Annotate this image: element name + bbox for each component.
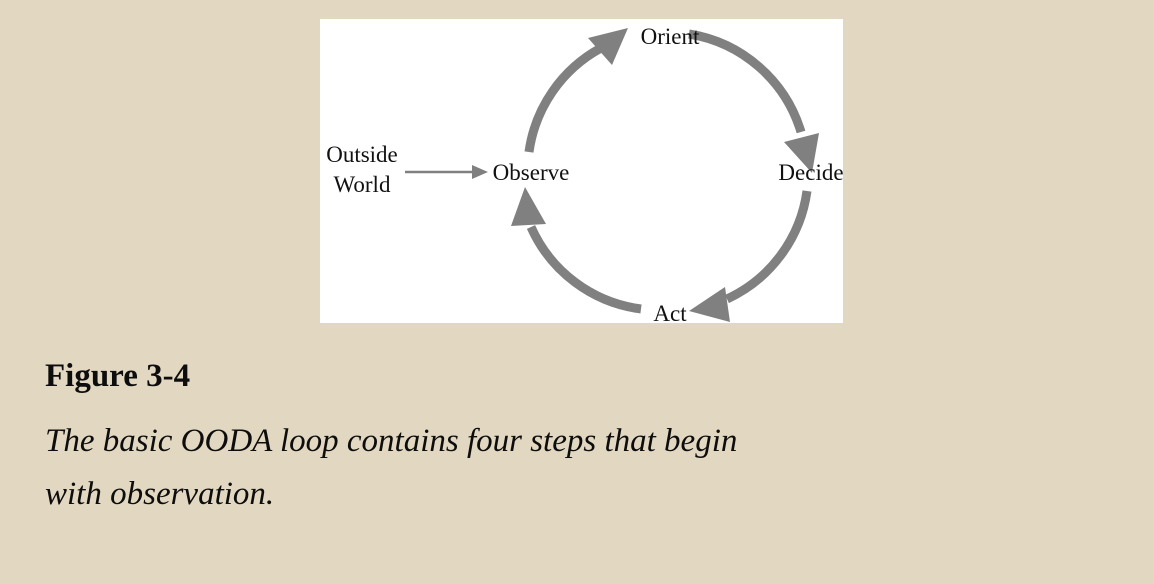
edge-outside-world-to-observe [405,165,488,179]
caption-line-2: with observation. [45,468,1065,521]
figure-number-label: Figure 3-4 [45,360,1105,393]
figure-image-panel: .arc { fill: none; stroke: #808080; stro… [320,19,843,323]
node-label-observe: Observe [493,160,570,185]
edge-orient-to-decide [689,34,819,173]
node-label-orient: Orient [641,24,700,49]
figure-caption-text: The basic OODA loop contains four steps … [45,415,1065,522]
edge-observe-to-orient [529,28,628,152]
ooda-loop-diagram: .arc { fill: none; stroke: #808080; stro… [320,19,843,323]
figure-caption-block: Figure 3-4 The basic OODA loop contains … [45,360,1105,522]
node-label-act: Act [653,301,687,323]
node-label-decide: Decide [778,160,843,185]
caption-line-1: The basic OODA loop contains four steps … [45,415,1065,468]
edge-act-to-observe [511,187,641,309]
outside-world-label-line1: Outside [326,142,398,167]
outside-world-label-line2: World [334,172,391,197]
edge-decide-to-act [689,191,807,322]
page-canvas: .arc { fill: none; stroke: #808080; stro… [0,0,1154,584]
